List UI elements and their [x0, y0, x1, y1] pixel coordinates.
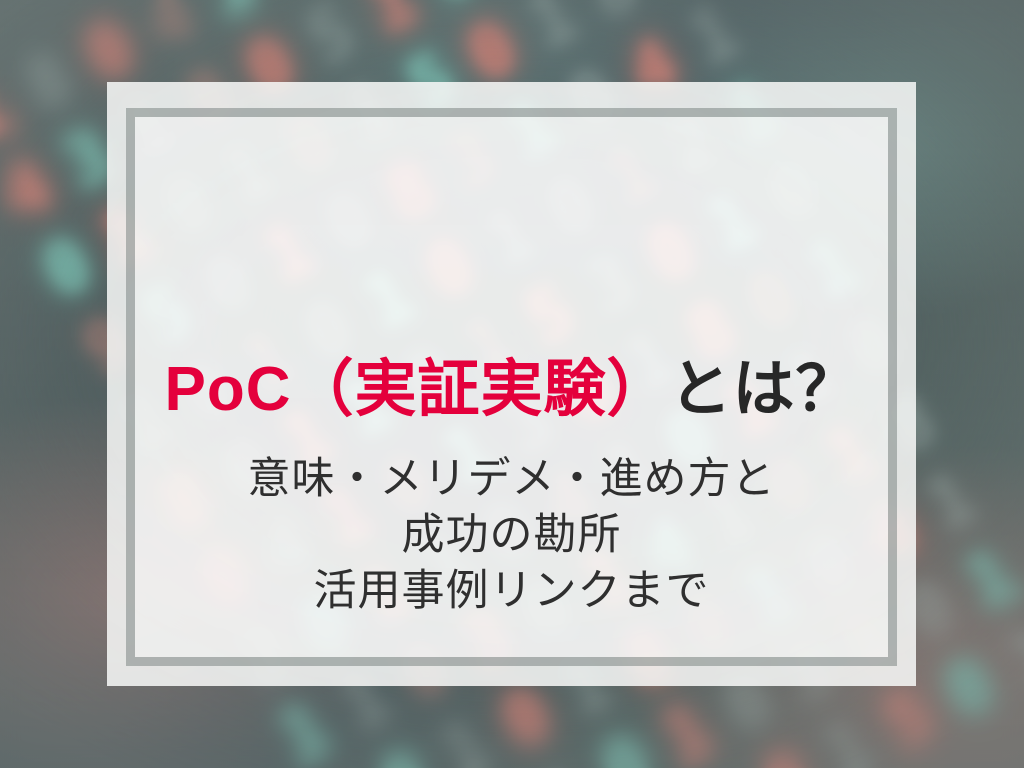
subtitle-line-2: 成功の勘所	[147, 508, 876, 564]
title-accent-text: PoC（実証実験）	[164, 355, 669, 424]
eyecatch-card: PoC（実証実験）とは？ 意味・メリデメ・進め方と 成功の勘所 活用事例リンクま…	[107, 82, 916, 686]
eyecatch-canvas: 1804101281043180510130010101501819501083…	[0, 0, 1024, 768]
text-block: PoC（実証実験）とは？ 意味・メリデメ・進め方と 成功の勘所 活用事例リンクま…	[107, 354, 916, 620]
page-title: PoC（実証実験）とは？	[147, 354, 876, 426]
subtitle-line-3: 活用事例リンクまで	[147, 564, 876, 620]
subtitle-line-1: 意味・メリデメ・進め方と	[147, 452, 876, 508]
title-dark-text: とは？	[670, 355, 859, 424]
subtitle: 意味・メリデメ・進め方と 成功の勘所 活用事例リンクまで	[147, 452, 876, 620]
